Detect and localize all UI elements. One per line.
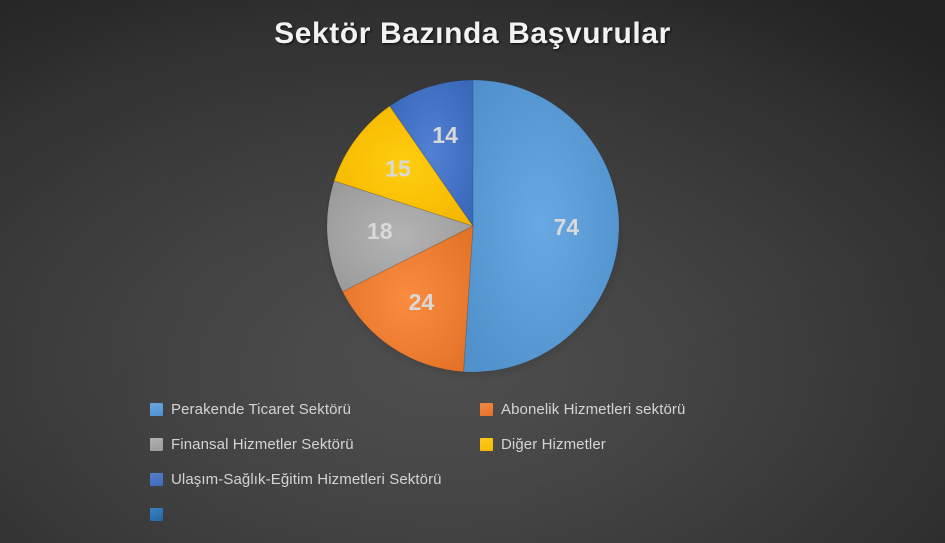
- legend-swatch-icon: [150, 473, 163, 486]
- legend-item-perakende-ticaret-sektoru[interactable]: Perakende Ticaret Sektörü: [150, 392, 480, 427]
- page-title: Sektör Bazında Başvurular: [0, 17, 945, 51]
- pie-slice-data-label: 24: [409, 289, 435, 315]
- legend-row: Finansal Hizmetler Sektörü Diğer Hizmetl…: [150, 427, 810, 462]
- legend-row: Perakende Ticaret Sektörü Abonelik Hizme…: [150, 392, 810, 427]
- pie-slice-data-label: 18: [367, 218, 393, 244]
- legend-swatch-icon: [150, 438, 163, 451]
- legend-item-diger-hizmetler[interactable]: Diğer Hizmetler: [480, 427, 810, 462]
- legend-row: [150, 497, 810, 532]
- legend-item-label: Ulaşım-Sağlık-Eğitim Hizmetleri Sektörü: [171, 471, 442, 488]
- pie-slice-data-label: 14: [432, 122, 458, 148]
- pie-slice-data-label: 74: [554, 214, 580, 240]
- legend-swatch-icon-green[interactable]: [450, 473, 463, 486]
- legend-row: Ulaşım-Sağlık-Eğitim Hizmetleri Sektörü: [150, 462, 810, 497]
- legend-item-label: Perakende Ticaret Sektörü: [171, 401, 351, 418]
- legend-swatch-icon: [480, 403, 493, 416]
- legend-swatch-icon-blue: [150, 508, 163, 521]
- legend-item-ulasim-saglik-egitim-hizmetleri-sektoru[interactable]: Ulaşım-Sağlık-Eğitim Hizmetleri Sektörü: [150, 462, 463, 497]
- legend-item-finansal-hizmetler-sektoru[interactable]: Finansal Hizmetler Sektörü: [150, 427, 480, 462]
- chart-legend: Perakende Ticaret Sektörü Abonelik Hizme…: [150, 392, 810, 532]
- legend-item-label: Diğer Hizmetler: [501, 436, 606, 453]
- legend-item-label: Abonelik Hizmetleri sektörü: [501, 401, 685, 418]
- legend-swatch-icon: [150, 403, 163, 416]
- legend-item-abonelik-hizmetleri-sektoru[interactable]: Abonelik Hizmetleri sektörü: [480, 392, 810, 427]
- legend-swatch-icon: [480, 438, 493, 451]
- chart-slide: Sektör Bazında Başvurular 7424181514 Per…: [0, 0, 945, 543]
- legend-item-empty[interactable]: [150, 497, 171, 532]
- pie-slice-data-label: 15: [385, 155, 411, 181]
- pie-slice[interactable]: [464, 80, 620, 372]
- legend-item-label: Finansal Hizmetler Sektörü: [171, 436, 354, 453]
